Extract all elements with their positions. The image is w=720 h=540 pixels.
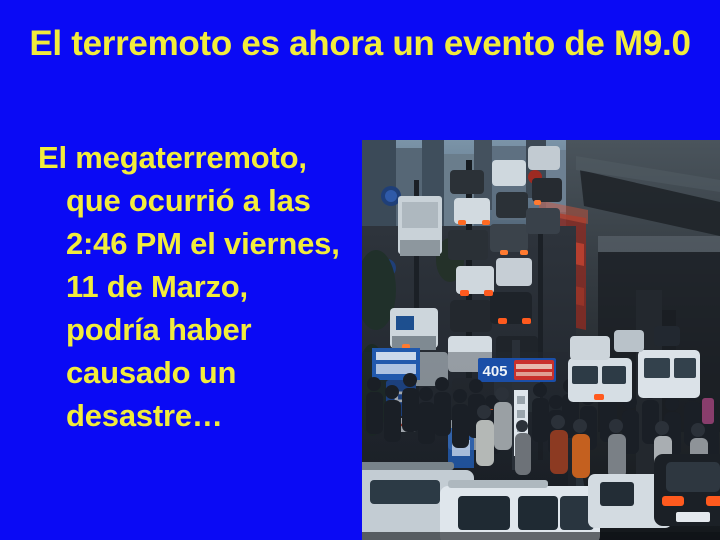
street-sign-number: 405 [482, 363, 507, 380]
photo-illustration: P 405 [362, 140, 720, 540]
page-title: El terremoto es ahora un evento de M9.0 [28, 22, 692, 66]
slide-canvas: El terremoto es ahora un evento de M9.0 … [0, 0, 720, 540]
body-text-block: El megaterremoto, que ocurrió a las 2:46… [38, 136, 348, 437]
body-paragraph: El megaterremoto, que ocurrió a las 2:46… [38, 136, 348, 437]
traffic-jam-photo: P 405 [362, 140, 720, 540]
